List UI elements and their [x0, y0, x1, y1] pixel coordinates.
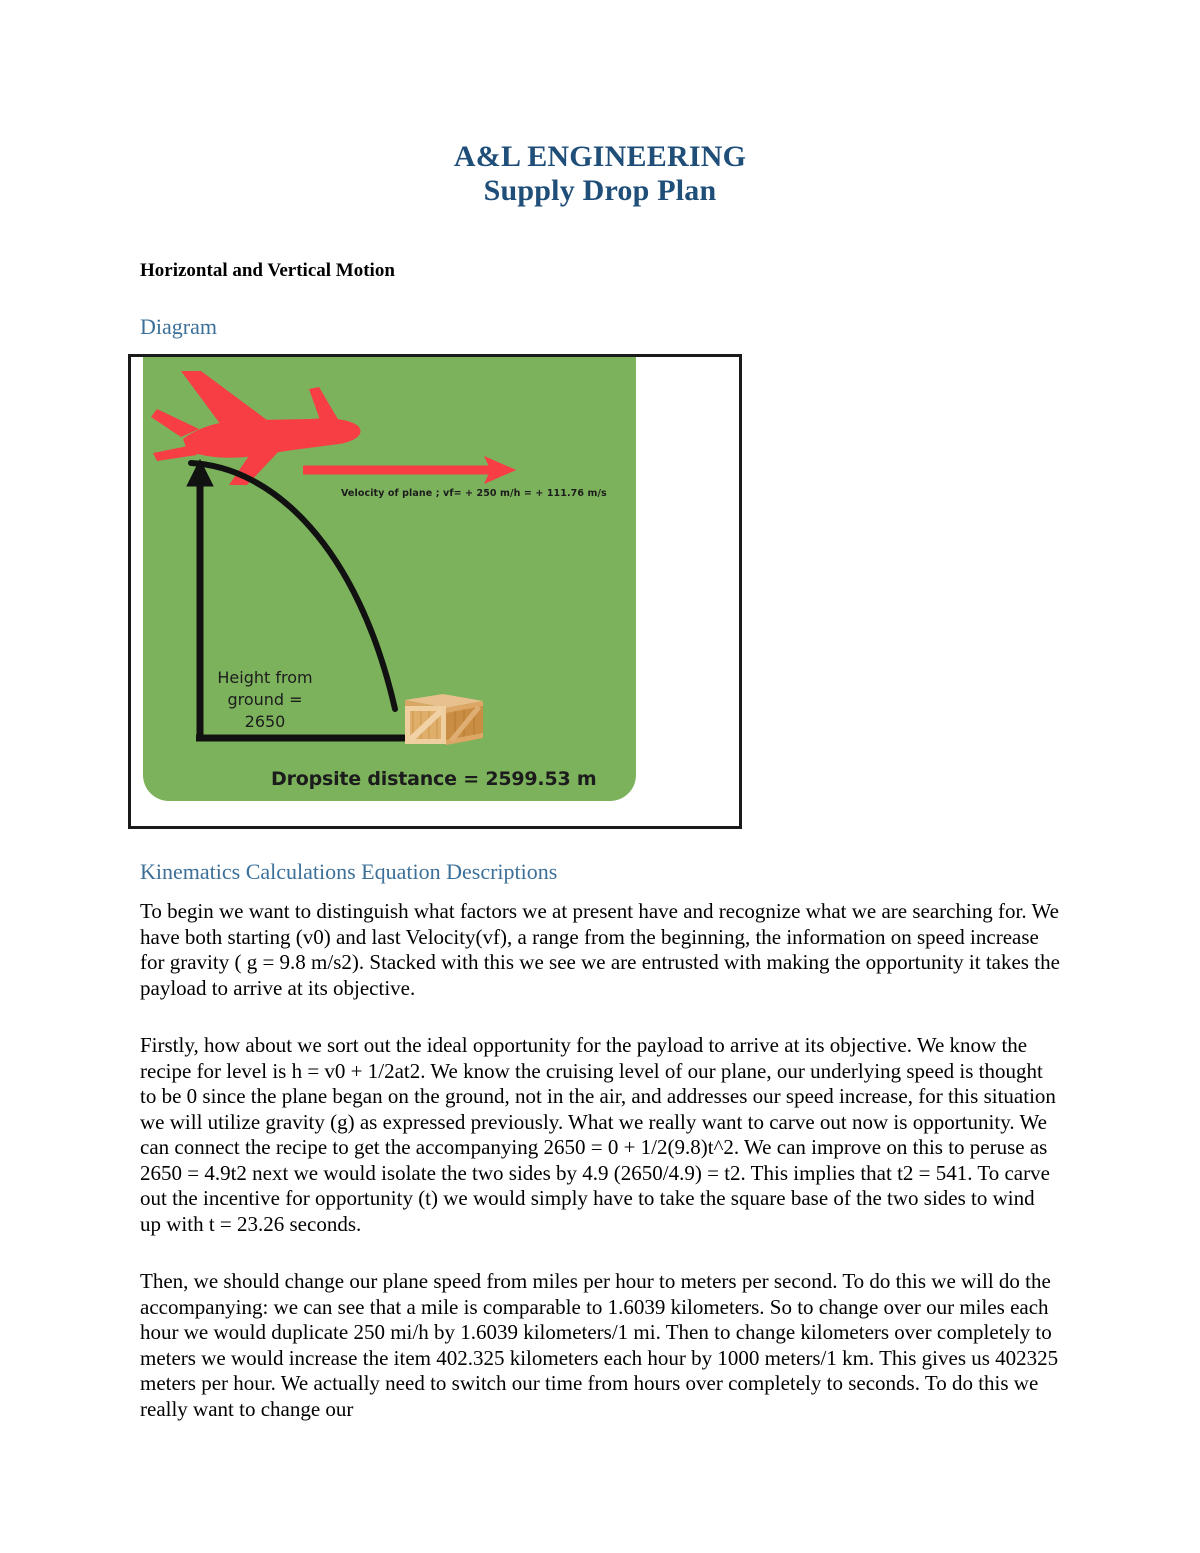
diagram-figure: Velocity of plane ; vf= + 250 m/h = + 11… [128, 354, 742, 829]
height-label: Height from ground = 2650 [205, 667, 325, 733]
subheading-kinematics: Kinematics Calculations Equation Descrip… [140, 859, 1060, 885]
title-line-subject: Supply Drop Plan [140, 174, 1060, 208]
diagram-svg [143, 357, 636, 801]
page-title: A&L ENGINEERING Supply Drop Plan [140, 140, 1060, 208]
velocity-label: Velocity of plane ; vf= + 250 m/h = + 11… [341, 488, 607, 499]
paragraph-factors: To begin we want to distinguish what fac… [140, 899, 1060, 1001]
document-page: A&L ENGINEERING Supply Drop Plan Horizon… [0, 0, 1200, 1553]
paragraph-time-calculation: Firstly, how about we sort out the ideal… [140, 1033, 1060, 1237]
supply-crate-icon [405, 694, 483, 745]
document-content: A&L ENGINEERING Supply Drop Plan Horizon… [140, 0, 1060, 1443]
diagram-canvas: Velocity of plane ; vf= + 250 m/h = + 11… [143, 357, 636, 801]
title-line-company: A&L ENGINEERING [140, 140, 1060, 174]
dropsite-label: Dropsite distance = 2599.53 m [271, 768, 597, 790]
subheading-diagram: Diagram [140, 314, 1060, 340]
paragraph-unit-conversion: Then, we should change our plane speed f… [140, 1269, 1060, 1422]
section-heading-motion: Horizontal and Vertical Motion [140, 260, 1060, 282]
right-arrow-icon [303, 457, 515, 483]
